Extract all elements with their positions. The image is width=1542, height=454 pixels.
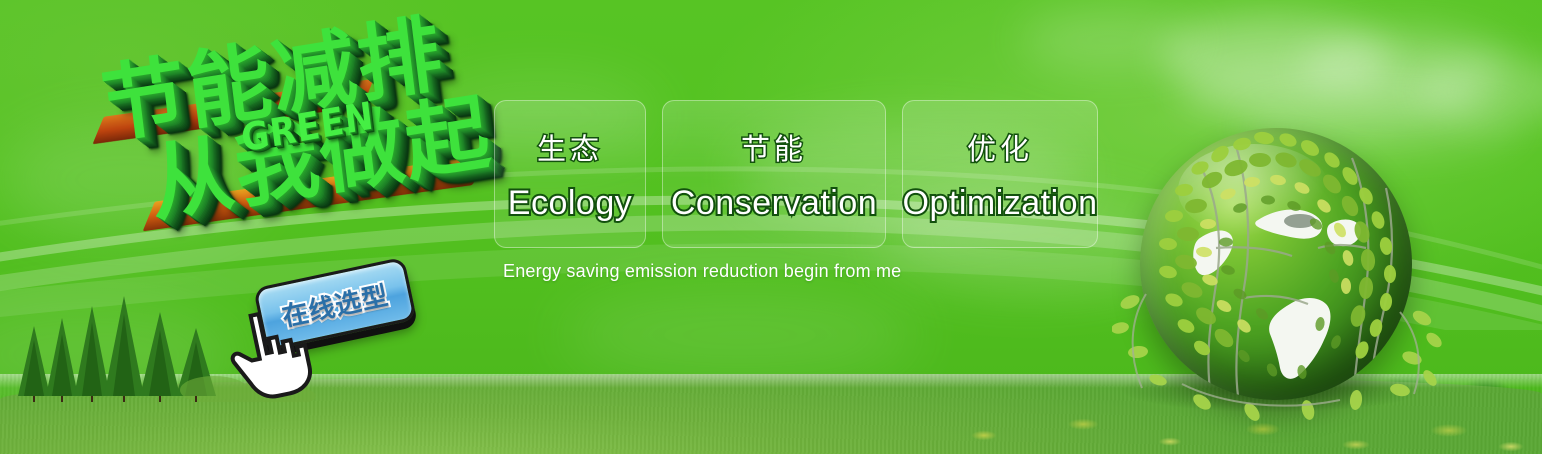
card-conservation[interactable]: 节能 Conservation	[662, 100, 886, 248]
card-title-cn: 生态	[537, 126, 603, 168]
card-optimization[interactable]: 优化 Optimization	[902, 100, 1098, 248]
cloud-icon	[1020, 10, 1200, 70]
card-title-cn: 优化	[967, 126, 1033, 168]
tagline: Energy saving emission reduction begin f…	[503, 261, 901, 282]
feature-cards: 生态 Ecology 节能 Conservation 优化 Optimizati…	[494, 100, 1098, 248]
main-title-3d: 节能减排 从我做起 GREEN	[82, 5, 529, 304]
card-title-en: Optimization	[903, 184, 1098, 223]
leafy-green-globe-icon	[1112, 112, 1442, 442]
globe-sphere	[1140, 128, 1412, 400]
green-energy-banner: 节能减排 从我做起 GREEN 在线选型 生态 Ecology 节能 Conse…	[0, 0, 1542, 454]
card-title-en: Ecology	[508, 184, 632, 223]
card-title-cn: 节能	[741, 126, 807, 168]
card-title-en: Conservation	[671, 184, 877, 223]
card-ecology[interactable]: 生态 Ecology	[494, 100, 646, 248]
